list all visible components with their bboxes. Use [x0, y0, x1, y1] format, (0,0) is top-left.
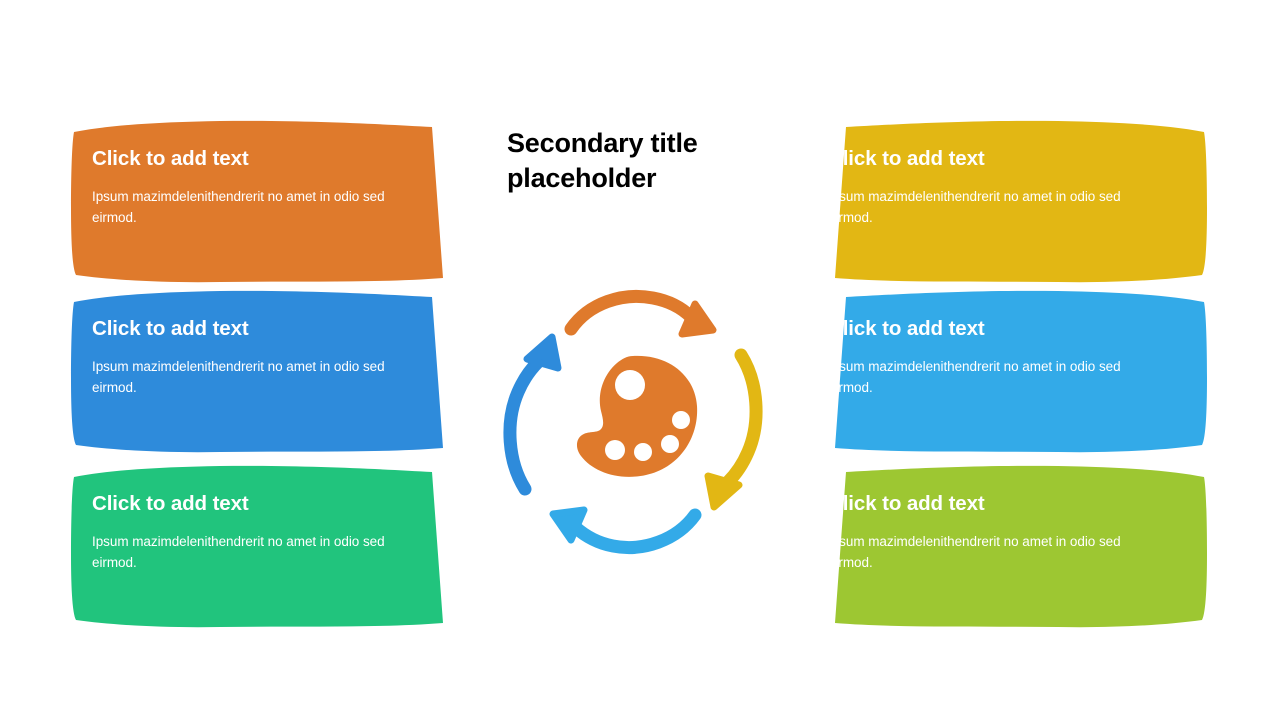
- content-card-right-middle[interactable]: Click to add text Ipsum mazimdelenithend…: [808, 288, 1208, 456]
- card-body: Click to add text Ipsum mazimdelenithend…: [70, 463, 470, 631]
- slide-canvas: Secondary title placeholder Click to add…: [0, 0, 1280, 720]
- card-heading: Click to add text: [92, 493, 436, 516]
- arrow-bottom-icon: [553, 510, 695, 548]
- card-heading: Click to add text: [828, 148, 1174, 171]
- card-heading: Click to add text: [92, 318, 436, 341]
- arrow-right-icon: [708, 355, 756, 507]
- content-card-left-top[interactable]: Click to add text Ipsum mazimdelenithend…: [70, 118, 470, 286]
- card-heading: Click to add text: [828, 493, 1174, 516]
- card-text: Ipsum mazimdelenithendrerit no amet in o…: [92, 531, 414, 575]
- card-body: Click to add text Ipsum mazimdelenithend…: [808, 463, 1208, 631]
- palette-well-4: [605, 440, 625, 460]
- card-heading: Click to add text: [92, 148, 436, 171]
- card-body: Click to add text Ipsum mazimdelenithend…: [70, 118, 470, 286]
- card-heading: Click to add text: [828, 318, 1174, 341]
- palette-well-2: [661, 435, 679, 453]
- center-cycle-graphic: [483, 272, 783, 572]
- page-title: Secondary title placeholder: [507, 126, 757, 195]
- card-text: Ipsum mazimdelenithendrerit no amet in o…: [92, 186, 414, 230]
- paint-palette-icon: [577, 356, 697, 477]
- arrow-top-icon: [571, 296, 713, 334]
- card-body: Click to add text Ipsum mazimdelenithend…: [70, 288, 470, 456]
- arrow-left-icon: [510, 337, 558, 489]
- card-text: Ipsum mazimdelenithendrerit no amet in o…: [828, 186, 1150, 230]
- palette-well-3: [634, 443, 652, 461]
- card-body: Click to add text Ipsum mazimdelenithend…: [808, 118, 1208, 286]
- card-text: Ipsum mazimdelenithendrerit no amet in o…: [92, 356, 414, 400]
- content-card-left-bottom[interactable]: Click to add text Ipsum mazimdelenithend…: [70, 463, 470, 631]
- card-text: Ipsum mazimdelenithendrerit no amet in o…: [828, 356, 1150, 400]
- content-card-right-top[interactable]: Click to add text Ipsum mazimdelenithend…: [808, 118, 1208, 286]
- card-body: Click to add text Ipsum mazimdelenithend…: [808, 288, 1208, 456]
- cycle-diagram-svg: [483, 272, 783, 572]
- card-text: Ipsum mazimdelenithendrerit no amet in o…: [828, 531, 1150, 575]
- palette-well-1: [672, 411, 690, 429]
- palette-hole-thumb: [615, 370, 645, 400]
- content-card-right-bottom[interactable]: Click to add text Ipsum mazimdelenithend…: [808, 463, 1208, 631]
- content-card-left-middle[interactable]: Click to add text Ipsum mazimdelenithend…: [70, 288, 470, 456]
